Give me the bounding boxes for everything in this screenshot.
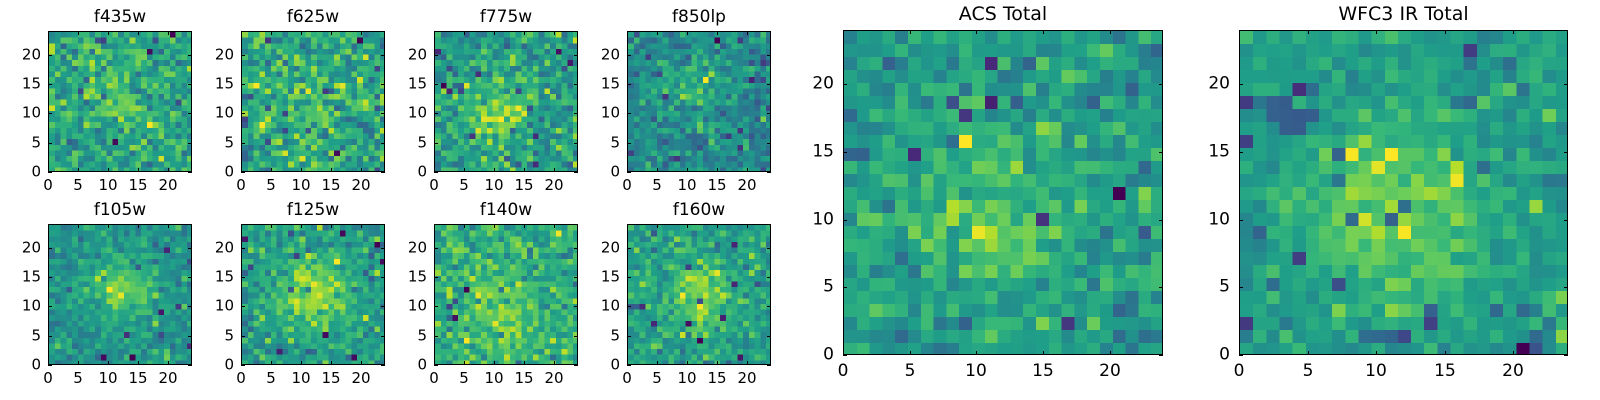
yticklabel-f625w-0: 0 — [224, 165, 234, 180]
heatmap-image-f125w — [242, 225, 385, 365]
xtick-wfc3-ir-total-15 — [1445, 351, 1446, 355]
yticklabel-f125w-5: 5 — [224, 329, 234, 344]
panel-title-f435w: f435w — [48, 9, 192, 26]
ytick-right-f435w-10 — [188, 113, 192, 114]
yticklabel-f625w-15: 15 — [215, 77, 234, 92]
yticklabel-f140w-15: 15 — [408, 270, 427, 285]
plot-area-f625w[interactable] — [241, 31, 385, 172]
yticklabel-wfc3-ir-total-15: 15 — [1208, 144, 1230, 161]
xticklabel-f140w-0: 0 — [429, 371, 439, 386]
yticklabel-f435w-20: 20 — [22, 48, 41, 63]
yticklabel-f850lp-20: 20 — [601, 48, 620, 63]
xtick-top-f105w-15 — [138, 224, 139, 228]
yticklabel-f160w-0: 0 — [610, 358, 620, 373]
yticklabel-f140w-10: 10 — [408, 299, 427, 314]
xticklabel-f850lp-15: 15 — [707, 178, 726, 193]
panel-f435w: f435w0510152005101520 — [48, 31, 192, 172]
ytick-f140w-20 — [434, 248, 438, 249]
yticklabel-f140w-5: 5 — [417, 329, 427, 344]
xtick-f625w-10 — [301, 168, 302, 172]
xtick-f850lp-5 — [657, 168, 658, 172]
xtick-top-f435w-5 — [78, 31, 79, 35]
ytick-right-acs-total-20 — [1159, 84, 1163, 85]
xticklabel-f160w-10: 10 — [677, 371, 696, 386]
heatmap-image-f140w — [435, 225, 578, 365]
xticklabel-wfc3-ir-total-5: 5 — [1303, 363, 1314, 380]
xtick-top-f775w-20 — [554, 31, 555, 35]
xtick-top-f140w-10 — [494, 224, 495, 228]
xtick-wfc3-ir-total-5 — [1308, 351, 1309, 355]
panel-title-f850lp: f850lp — [627, 9, 771, 26]
yticklabel-f125w-20: 20 — [215, 241, 234, 256]
panel-wfc3-ir-total: WFC3 IR Total0510152005101520 — [1239, 30, 1568, 355]
yticklabel-f435w-5: 5 — [31, 136, 41, 151]
ytick-right-acs-total-5 — [1159, 287, 1163, 288]
yticklabel-wfc3-ir-total-0: 0 — [1219, 347, 1230, 364]
ytick-f160w-5 — [627, 336, 631, 337]
panel-title-f160w: f160w — [627, 202, 771, 219]
ytick-right-f140w-5 — [574, 336, 578, 337]
ytick-right-f775w-20 — [574, 55, 578, 56]
panel-f850lp: f850lp0510152005101520 — [627, 31, 771, 172]
xtick-top-acs-total-0 — [843, 30, 844, 34]
ytick-acs-total-15 — [843, 152, 847, 153]
panel-title-wfc3-ir-total: WFC3 IR Total — [1239, 5, 1568, 24]
xtick-top-wfc3-ir-total-15 — [1445, 30, 1446, 34]
xticklabel-f105w-15: 15 — [128, 371, 147, 386]
yticklabel-f125w-10: 10 — [215, 299, 234, 314]
ytick-f140w-0 — [434, 365, 438, 366]
ytick-right-f625w-20 — [381, 55, 385, 56]
ytick-f850lp-10 — [627, 113, 631, 114]
xticklabel-f435w-5: 5 — [73, 178, 83, 193]
xtick-f125w-15 — [331, 361, 332, 365]
xtick-top-f850lp-5 — [657, 31, 658, 35]
xticklabel-f160w-15: 15 — [707, 371, 726, 386]
ytick-right-f160w-5 — [767, 336, 771, 337]
yticklabel-f850lp-10: 10 — [601, 106, 620, 121]
xticklabel-f775w-15: 15 — [514, 178, 533, 193]
ytick-f850lp-5 — [627, 143, 631, 144]
xticklabel-f125w-0: 0 — [236, 371, 246, 386]
ytick-right-wfc3-ir-total-5 — [1564, 287, 1568, 288]
xtick-top-f850lp-0 — [627, 31, 628, 35]
xticklabel-wfc3-ir-total-0: 0 — [1234, 363, 1245, 380]
yticklabel-f140w-20: 20 — [408, 241, 427, 256]
xtick-top-f160w-5 — [657, 224, 658, 228]
heatmap-image-wfc3-ir-total — [1240, 31, 1568, 355]
xticklabel-f160w-20: 20 — [737, 371, 756, 386]
xticklabel-f775w-10: 10 — [484, 178, 503, 193]
ytick-right-f125w-10 — [381, 306, 385, 307]
xticklabel-f435w-10: 10 — [98, 178, 117, 193]
xtick-top-f105w-20 — [168, 224, 169, 228]
xticklabel-acs-total-0: 0 — [838, 363, 849, 380]
xtick-f775w-5 — [464, 168, 465, 172]
xtick-acs-total-10 — [976, 351, 977, 355]
ytick-right-f435w-0 — [188, 172, 192, 173]
ytick-right-f850lp-5 — [767, 143, 771, 144]
ytick-f125w-20 — [241, 248, 245, 249]
xtick-top-f775w-5 — [464, 31, 465, 35]
ytick-wfc3-ir-total-0 — [1239, 355, 1243, 356]
plot-area-f160w[interactable] — [627, 224, 771, 365]
ytick-f775w-0 — [434, 172, 438, 173]
ytick-wfc3-ir-total-15 — [1239, 152, 1243, 153]
yticklabel-acs-total-20: 20 — [812, 76, 834, 93]
ytick-right-f625w-0 — [381, 172, 385, 173]
ytick-right-f125w-15 — [381, 277, 385, 278]
xticklabel-acs-total-5: 5 — [905, 363, 916, 380]
ytick-f775w-5 — [434, 143, 438, 144]
xticklabel-f850lp-10: 10 — [677, 178, 696, 193]
ytick-f125w-0 — [241, 365, 245, 366]
xtick-top-wfc3-ir-total-0 — [1239, 30, 1240, 34]
ytick-f105w-5 — [48, 336, 52, 337]
xtick-f105w-10 — [108, 361, 109, 365]
xtick-top-f160w-0 — [627, 224, 628, 228]
yticklabel-f105w-20: 20 — [22, 241, 41, 256]
yticklabel-f775w-20: 20 — [408, 48, 427, 63]
ytick-right-wfc3-ir-total-15 — [1564, 152, 1568, 153]
xtick-top-f125w-0 — [241, 224, 242, 228]
xtick-top-f625w-10 — [301, 31, 302, 35]
xticklabel-f125w-10: 10 — [291, 371, 310, 386]
xtick-f105w-15 — [138, 361, 139, 365]
xtick-acs-total-15 — [1043, 351, 1044, 355]
yticklabel-f140w-0: 0 — [417, 358, 427, 373]
xtick-f435w-20 — [168, 168, 169, 172]
heatmap-image-f850lp — [628, 32, 771, 172]
ytick-right-f160w-0 — [767, 365, 771, 366]
xticklabel-f160w-0: 0 — [622, 371, 632, 386]
yticklabel-f435w-15: 15 — [22, 77, 41, 92]
ytick-f625w-10 — [241, 113, 245, 114]
ytick-f775w-15 — [434, 84, 438, 85]
yticklabel-f850lp-15: 15 — [601, 77, 620, 92]
heatmap-image-f775w — [435, 32, 578, 172]
xtick-top-f140w-15 — [524, 224, 525, 228]
panel-f160w: f160w0510152005101520 — [627, 224, 771, 365]
xtick-f140w-20 — [554, 361, 555, 365]
panel-f125w: f125w0510152005101520 — [241, 224, 385, 365]
panel-f105w: f105w0510152005101520 — [48, 224, 192, 365]
yticklabel-f160w-20: 20 — [601, 241, 620, 256]
xticklabel-f850lp-20: 20 — [737, 178, 756, 193]
xtick-top-f625w-15 — [331, 31, 332, 35]
xticklabel-acs-total-15: 15 — [1032, 363, 1054, 380]
yticklabel-f435w-10: 10 — [22, 106, 41, 121]
ytick-acs-total-10 — [843, 220, 847, 221]
heatmap-image-f625w — [242, 32, 385, 172]
xtick-acs-total-20 — [1110, 351, 1111, 355]
ytick-f125w-10 — [241, 306, 245, 307]
xticklabel-wfc3-ir-total-20: 20 — [1502, 363, 1524, 380]
ytick-f625w-20 — [241, 55, 245, 56]
ytick-f435w-0 — [48, 172, 52, 173]
ytick-f435w-15 — [48, 84, 52, 85]
xticklabel-f105w-5: 5 — [73, 371, 83, 386]
xticklabel-f105w-0: 0 — [43, 371, 53, 386]
ytick-f850lp-15 — [627, 84, 631, 85]
ytick-right-f105w-5 — [188, 336, 192, 337]
xticklabel-f850lp-0: 0 — [622, 178, 632, 193]
xticklabel-f625w-20: 20 — [351, 178, 370, 193]
xtick-f105w-5 — [78, 361, 79, 365]
xticklabel-f125w-20: 20 — [351, 371, 370, 386]
xticklabel-f625w-10: 10 — [291, 178, 310, 193]
xticklabel-f850lp-5: 5 — [652, 178, 662, 193]
xtick-top-f160w-20 — [747, 224, 748, 228]
ytick-right-f850lp-10 — [767, 113, 771, 114]
ytick-right-f435w-20 — [188, 55, 192, 56]
xtick-f850lp-15 — [717, 168, 718, 172]
xtick-f160w-10 — [687, 361, 688, 365]
xticklabel-f140w-20: 20 — [544, 371, 563, 386]
ytick-wfc3-ir-total-10 — [1239, 220, 1243, 221]
ytick-f850lp-0 — [627, 172, 631, 173]
yticklabel-f435w-0: 0 — [31, 165, 41, 180]
ytick-f160w-20 — [627, 248, 631, 249]
xtick-top-f625w-0 — [241, 31, 242, 35]
ytick-wfc3-ir-total-20 — [1239, 84, 1243, 85]
ytick-right-acs-total-0 — [1159, 355, 1163, 356]
xticklabel-f625w-0: 0 — [236, 178, 246, 193]
ytick-right-f105w-20 — [188, 248, 192, 249]
xticklabel-f775w-0: 0 — [429, 178, 439, 193]
yticklabel-wfc3-ir-total-5: 5 — [1219, 279, 1230, 296]
xtick-top-f435w-0 — [48, 31, 49, 35]
heatmap-image-f105w — [49, 225, 192, 365]
plot-area-f105w[interactable] — [48, 224, 192, 365]
xticklabel-f105w-20: 20 — [158, 371, 177, 386]
xticklabel-f775w-20: 20 — [544, 178, 563, 193]
ytick-right-f105w-10 — [188, 306, 192, 307]
ytick-f105w-0 — [48, 365, 52, 366]
plot-area-f435w[interactable] — [48, 31, 192, 172]
heatmap-image-f160w — [628, 225, 771, 365]
ytick-right-f775w-0 — [574, 172, 578, 173]
ytick-right-f775w-15 — [574, 84, 578, 85]
xtick-acs-total-5 — [910, 351, 911, 355]
xtick-f850lp-10 — [687, 168, 688, 172]
xtick-f625w-5 — [271, 168, 272, 172]
yticklabel-acs-total-10: 10 — [812, 212, 834, 229]
xtick-f775w-10 — [494, 168, 495, 172]
xtick-f140w-15 — [524, 361, 525, 365]
yticklabel-f850lp-5: 5 — [610, 136, 620, 151]
ytick-right-f125w-0 — [381, 365, 385, 366]
xtick-top-f435w-20 — [168, 31, 169, 35]
xtick-top-f850lp-10 — [687, 31, 688, 35]
ytick-right-f140w-15 — [574, 277, 578, 278]
ytick-f435w-10 — [48, 113, 52, 114]
ytick-f160w-0 — [627, 365, 631, 366]
xtick-top-f625w-20 — [361, 31, 362, 35]
plot-area-wfc3-ir-total[interactable] — [1239, 30, 1568, 355]
ytick-f850lp-20 — [627, 55, 631, 56]
xticklabel-f125w-15: 15 — [321, 371, 340, 386]
xticklabel-f625w-5: 5 — [266, 178, 276, 193]
ytick-f435w-20 — [48, 55, 52, 56]
yticklabel-f625w-10: 10 — [215, 106, 234, 121]
ytick-f125w-15 — [241, 277, 245, 278]
ytick-right-f140w-20 — [574, 248, 578, 249]
ytick-right-f850lp-0 — [767, 172, 771, 173]
ytick-f775w-20 — [434, 55, 438, 56]
yticklabel-f160w-5: 5 — [610, 329, 620, 344]
ytick-f625w-15 — [241, 84, 245, 85]
xtick-f850lp-20 — [747, 168, 748, 172]
panel-f775w: f775w0510152005101520 — [434, 31, 578, 172]
xtick-top-f140w-20 — [554, 224, 555, 228]
ytick-right-f625w-10 — [381, 113, 385, 114]
xtick-top-f125w-15 — [331, 224, 332, 228]
xtick-top-wfc3-ir-total-20 — [1513, 30, 1514, 34]
yticklabel-f625w-20: 20 — [215, 48, 234, 63]
ytick-f160w-15 — [627, 277, 631, 278]
xticklabel-f160w-5: 5 — [652, 371, 662, 386]
ytick-right-f435w-5 — [188, 143, 192, 144]
xtick-f775w-15 — [524, 168, 525, 172]
ytick-f140w-15 — [434, 277, 438, 278]
ytick-f625w-5 — [241, 143, 245, 144]
panel-acs-total: ACS Total0510152005101520 — [843, 30, 1163, 355]
xticklabel-f140w-5: 5 — [459, 371, 469, 386]
yticklabel-f105w-15: 15 — [22, 270, 41, 285]
xticklabel-acs-total-20: 20 — [1099, 363, 1121, 380]
yticklabel-wfc3-ir-total-10: 10 — [1208, 212, 1230, 229]
xtick-top-f850lp-15 — [717, 31, 718, 35]
panel-title-f125w: f125w — [241, 202, 385, 219]
xtick-top-f140w-5 — [464, 224, 465, 228]
xtick-top-f105w-5 — [78, 224, 79, 228]
heatmap-image-f435w — [49, 32, 192, 172]
yticklabel-f160w-15: 15 — [601, 270, 620, 285]
ytick-right-wfc3-ir-total-0 — [1564, 355, 1568, 356]
plot-area-f140w[interactable] — [434, 224, 578, 365]
plot-area-f125w[interactable] — [241, 224, 385, 365]
ytick-f140w-10 — [434, 306, 438, 307]
ytick-f435w-5 — [48, 143, 52, 144]
xtick-f160w-5 — [657, 361, 658, 365]
xticklabel-f625w-15: 15 — [321, 178, 340, 193]
xtick-f125w-5 — [271, 361, 272, 365]
yticklabel-f105w-0: 0 — [31, 358, 41, 373]
ytick-f105w-10 — [48, 306, 52, 307]
xtick-f105w-20 — [168, 361, 169, 365]
yticklabel-f125w-15: 15 — [215, 270, 234, 285]
ytick-right-f850lp-15 — [767, 84, 771, 85]
xtick-top-acs-total-10 — [976, 30, 977, 34]
xtick-top-f105w-0 — [48, 224, 49, 228]
ytick-f775w-10 — [434, 113, 438, 114]
xtick-top-f435w-10 — [108, 31, 109, 35]
panel-title-f625w: f625w — [241, 9, 385, 26]
xticklabel-f140w-15: 15 — [514, 371, 533, 386]
xticklabel-f125w-5: 5 — [266, 371, 276, 386]
yticklabel-f160w-10: 10 — [601, 299, 620, 314]
xticklabel-acs-total-10: 10 — [965, 363, 987, 380]
ytick-right-acs-total-10 — [1159, 220, 1163, 221]
ytick-right-f625w-5 — [381, 143, 385, 144]
ytick-f140w-5 — [434, 336, 438, 337]
panel-title-f105w: f105w — [48, 202, 192, 219]
yticklabel-f125w-0: 0 — [224, 358, 234, 373]
yticklabel-acs-total-0: 0 — [823, 347, 834, 364]
ytick-right-f435w-15 — [188, 84, 192, 85]
xtick-top-f850lp-20 — [747, 31, 748, 35]
ytick-right-wfc3-ir-total-20 — [1564, 84, 1568, 85]
ytick-right-f160w-10 — [767, 306, 771, 307]
xtick-top-f125w-5 — [271, 224, 272, 228]
ytick-f625w-0 — [241, 172, 245, 173]
ytick-f160w-10 — [627, 306, 631, 307]
yticklabel-f105w-10: 10 — [22, 299, 41, 314]
xtick-f435w-15 — [138, 168, 139, 172]
xtick-top-f160w-15 — [717, 224, 718, 228]
xtick-top-acs-total-20 — [1110, 30, 1111, 34]
yticklabel-f105w-5: 5 — [31, 329, 41, 344]
xtick-f625w-20 — [361, 168, 362, 172]
xtick-f125w-10 — [301, 361, 302, 365]
xtick-f140w-5 — [464, 361, 465, 365]
xtick-wfc3-ir-total-20 — [1513, 351, 1514, 355]
ytick-wfc3-ir-total-5 — [1239, 287, 1243, 288]
xticklabel-f435w-15: 15 — [128, 178, 147, 193]
figure-canvas: f435w0510152005101520f625w05101520051015… — [0, 0, 1600, 400]
xtick-wfc3-ir-total-10 — [1376, 351, 1377, 355]
xticklabel-wfc3-ir-total-15: 15 — [1434, 363, 1456, 380]
ytick-f125w-5 — [241, 336, 245, 337]
xtick-top-f125w-20 — [361, 224, 362, 228]
xtick-top-wfc3-ir-total-10 — [1376, 30, 1377, 34]
ytick-right-f160w-15 — [767, 277, 771, 278]
xtick-f160w-20 — [747, 361, 748, 365]
yticklabel-f625w-5: 5 — [224, 136, 234, 151]
xtick-top-acs-total-5 — [910, 30, 911, 34]
ytick-right-f125w-20 — [381, 248, 385, 249]
yticklabel-acs-total-5: 5 — [823, 279, 834, 296]
yticklabel-f775w-0: 0 — [417, 165, 427, 180]
ytick-right-f125w-5 — [381, 336, 385, 337]
ytick-f105w-20 — [48, 248, 52, 249]
ytick-acs-total-20 — [843, 84, 847, 85]
plot-area-acs-total[interactable] — [843, 30, 1163, 355]
xtick-f125w-20 — [361, 361, 362, 365]
xticklabel-f105w-10: 10 — [98, 371, 117, 386]
xtick-f140w-10 — [494, 361, 495, 365]
panel-title-f775w: f775w — [434, 9, 578, 26]
xtick-top-f140w-0 — [434, 224, 435, 228]
ytick-right-f140w-10 — [574, 306, 578, 307]
yticklabel-acs-total-15: 15 — [812, 144, 834, 161]
yticklabel-f775w-15: 15 — [408, 77, 427, 92]
yticklabel-f775w-10: 10 — [408, 106, 427, 121]
plot-area-f775w[interactable] — [434, 31, 578, 172]
ytick-right-f105w-15 — [188, 277, 192, 278]
ytick-right-f625w-15 — [381, 84, 385, 85]
xtick-f160w-15 — [717, 361, 718, 365]
ytick-right-wfc3-ir-total-10 — [1564, 220, 1568, 221]
plot-area-f850lp[interactable] — [627, 31, 771, 172]
xtick-top-f625w-5 — [271, 31, 272, 35]
xtick-top-acs-total-15 — [1043, 30, 1044, 34]
xticklabel-f775w-5: 5 — [459, 178, 469, 193]
ytick-right-acs-total-15 — [1159, 152, 1163, 153]
ytick-acs-total-5 — [843, 287, 847, 288]
xtick-top-f125w-10 — [301, 224, 302, 228]
